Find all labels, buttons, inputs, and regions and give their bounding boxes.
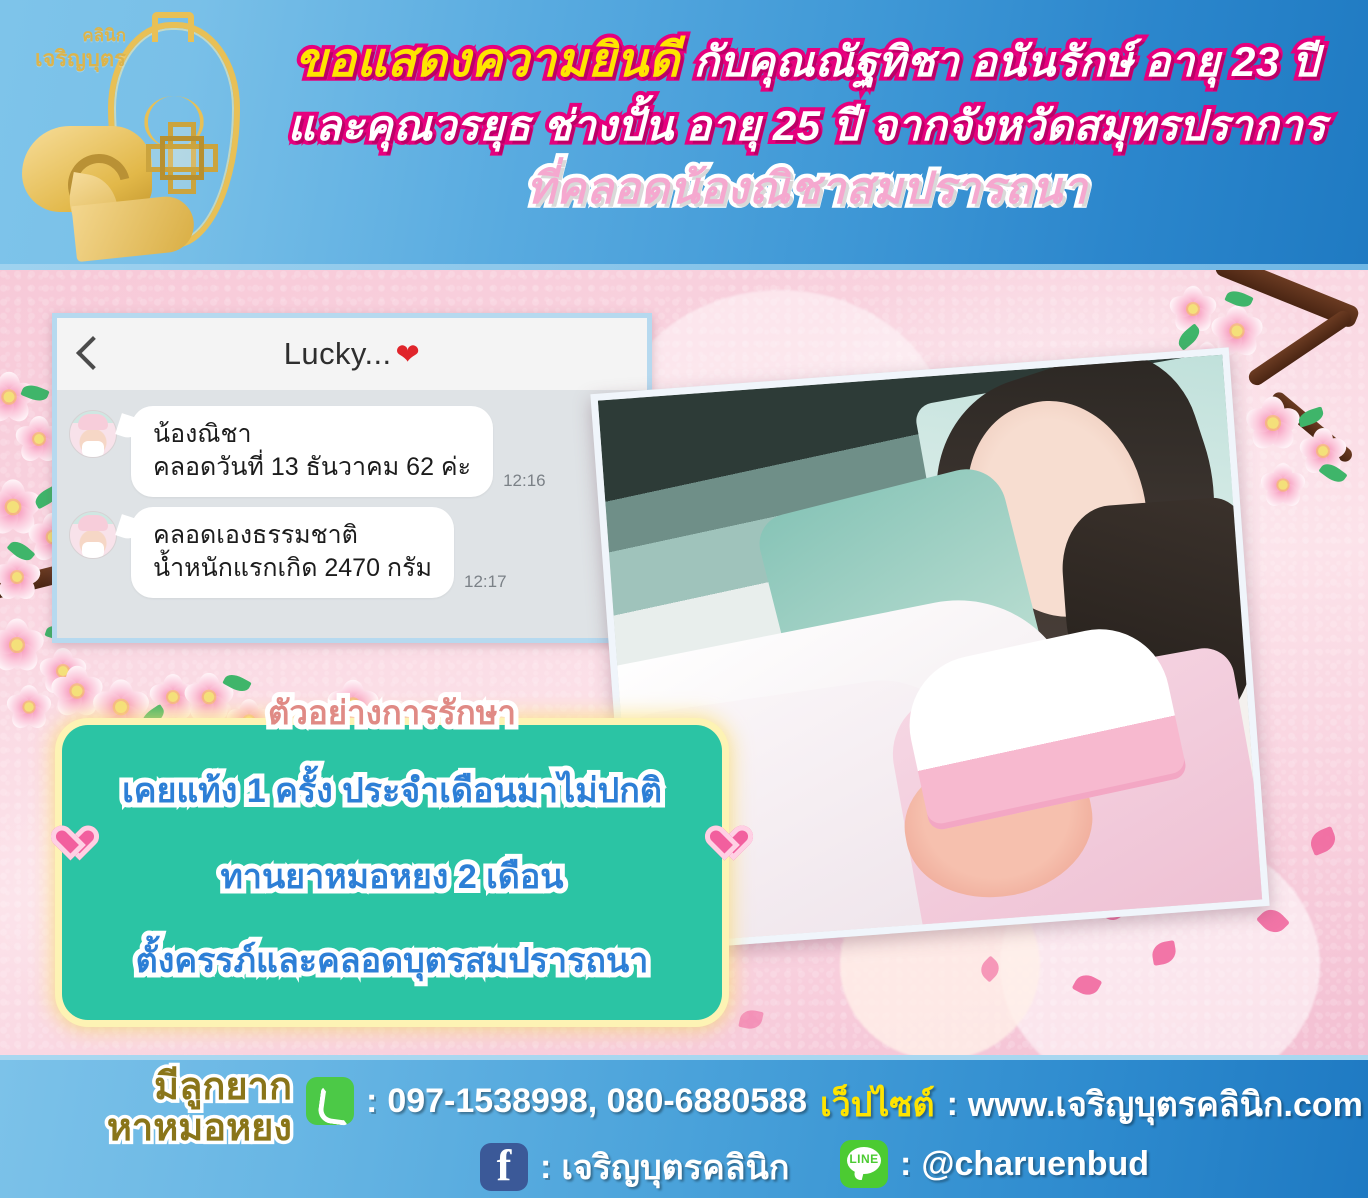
tagline-line-1: มีลูกยาก — [12, 1067, 292, 1108]
separator: : — [366, 1082, 377, 1121]
heart-icon: ❤ — [396, 339, 421, 371]
chat-message: คลอดเองธรรมชาติ น้ำหนักแรกเกิด 2470 กรัม… — [69, 507, 647, 598]
gourd-neck-icon — [152, 12, 194, 42]
footer-website-row: เว็ปไซต์ : www.เจริญบุตรคลินิก.com — [806, 1077, 1363, 1131]
treatment-title: ตัวอย่างการรักษา — [62, 686, 722, 739]
headline-row-3: ที่คลอดน้องณิชาสมปรารถนา — [258, 167, 1356, 211]
clinic-logo: คลินิก เจริญบุตร — [8, 4, 258, 266]
headline-mother: กับคุณณัฐทิชา อนันรักษ์ อายุ 23 ปี — [694, 38, 1319, 85]
treatment-line: ทานยาหมอหยง 2 เดือน — [62, 817, 722, 903]
treatment-example-box: ตัวอย่างการรักษา เคยแท้ง 1 ครั้ง ประจำเด… — [62, 725, 722, 1020]
chevron-left-icon[interactable] — [73, 336, 101, 372]
facebook-icon[interactable] — [480, 1143, 528, 1191]
headline-father: และคุณวรยุธ ช่างปั้น อายุ 25 ปี จากจังหว… — [288, 102, 1327, 149]
footer-facebook-row: : เจริญบุตรคลินิก — [480, 1140, 789, 1194]
headline-row-2: และคุณวรยุธ ช่างปั้น อายุ 25 ปี จากจังหว… — [258, 105, 1356, 147]
separator: : — [900, 1145, 911, 1184]
message-line: น้ำหนักแรกเกิด 2470 กรัม — [153, 552, 432, 585]
chat-header: Lucky...❤ — [57, 318, 647, 390]
poster-body: เจริญบุตรคลินิก เจริญบุตรคลินิก — [0, 270, 1368, 1055]
poster-header: คลินิก เจริญบุตร ขอแสดงความยินดีกับคุณณั… — [0, 0, 1368, 270]
footer-line-row: : @charuenbud — [840, 1140, 1149, 1188]
headline-baby: ที่คลอดน้องณิชาสมปรารถนา — [527, 164, 1088, 213]
website-value[interactable]: www.เจริญบุตรคลินิก.com — [968, 1077, 1363, 1131]
chat-title-text: Lucky... — [284, 336, 392, 371]
headline-block: ขอแสดงความยินดีกับคุณณัฐทิชา อนันรักษ์ อ… — [258, 22, 1356, 211]
message-bubble: คลอดเองธรรมชาติ น้ำหนักแรกเกิด 2470 กรัม — [131, 507, 454, 598]
website-label: เว็ปไซต์ — [820, 1077, 935, 1131]
message-timestamp: 12:16 — [503, 471, 546, 491]
avatar — [69, 511, 117, 559]
headline-row-1: ขอแสดงความยินดีกับคุณณัฐทิชา อนันรักษ์ อ… — [258, 36, 1356, 83]
treatment-line: ตั้งครรภ์และคลอดบุตรสมปรารถนา — [62, 903, 722, 987]
logo-line-2: เจริญบุตร — [26, 46, 126, 71]
chat-screenshot: Lucky...❤ น้องณิชา คลอดวันที่ 13 ธันวาคม… — [52, 313, 652, 643]
phone-icon[interactable] — [306, 1077, 354, 1125]
gold-swirl-icon — [71, 194, 196, 262]
poster-footer: มีลูกยาก หาหมอหยง : 097-1538998, 080-688… — [0, 1055, 1368, 1198]
heart-icon — [44, 811, 86, 849]
petal-icon — [738, 1008, 763, 1031]
line-value[interactable]: @charuenbud — [921, 1145, 1149, 1184]
heart-icon — [698, 811, 740, 849]
petal-icon — [1307, 826, 1339, 856]
chat-messages: น้องณิชา คลอดวันที่ 13 ธันวาคม 62 ค่ะ 12… — [57, 390, 647, 643]
footer-tagline: มีลูกยาก หาหมอหยง — [12, 1067, 292, 1149]
logo-wordmark: คลินิก เจริญบุตร — [26, 26, 126, 71]
line-icon[interactable] — [840, 1140, 888, 1188]
avatar — [69, 410, 117, 458]
message-timestamp: 12:17 — [464, 572, 507, 592]
chat-title: Lucky...❤ — [284, 336, 420, 372]
tagline-line-2: หาหมอหยง — [12, 1108, 292, 1149]
cross-knot-icon — [146, 122, 218, 194]
headline-congrats: ขอแสดงความยินดี — [295, 33, 680, 86]
logo-line-1: คลินิก — [26, 26, 126, 46]
message-line: คลอดวันที่ 13 ธันวาคม 62 ค่ะ — [153, 451, 471, 484]
chat-message: น้องณิชา คลอดวันที่ 13 ธันวาคม 62 ค่ะ 12… — [69, 406, 647, 497]
promo-poster: คลินิก เจริญบุตร ขอแสดงความยินดีกับคุณณั… — [0, 0, 1368, 1198]
message-line: คลอดเองธรรมชาติ — [153, 519, 432, 552]
separator: : — [947, 1085, 958, 1124]
facebook-value[interactable]: เจริญบุตรคลินิก — [561, 1140, 789, 1194]
footer-phone-row: : 097-1538998, 080-6880588 — [306, 1077, 807, 1125]
phone-value[interactable]: 097-1538998, 080-6880588 — [387, 1082, 807, 1121]
message-line: น้องณิชา — [153, 418, 471, 451]
separator: : — [540, 1148, 551, 1187]
message-bubble: น้องณิชา คลอดวันที่ 13 ธันวาคม 62 ค่ะ — [131, 406, 493, 497]
